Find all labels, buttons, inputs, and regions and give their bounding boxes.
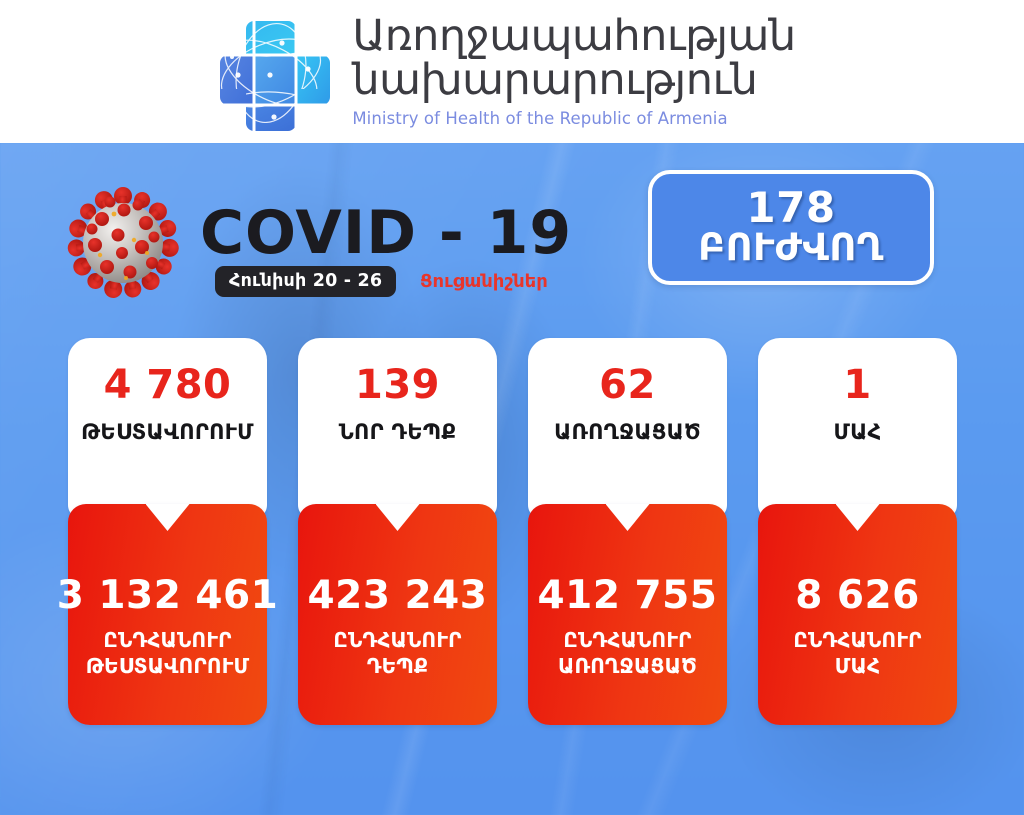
coronavirus-particle-icon bbox=[62, 177, 184, 309]
total-number: 412 755 bbox=[538, 576, 718, 615]
period-number: 1 bbox=[843, 365, 871, 405]
ministry-title-line-2: նախարարություն bbox=[352, 59, 795, 103]
recovering-number: 178 bbox=[746, 187, 835, 230]
period-label: ԹԵՍՏԱՎՈՐՈՒՄ bbox=[81, 420, 254, 444]
stat-card-bottom: 8 626 ԸՆԴՀԱՆՈՒՐ ՄԱՀ bbox=[758, 504, 957, 725]
period-number: 4 780 bbox=[104, 365, 232, 405]
page-title: COVID - 19 bbox=[200, 203, 572, 263]
recovering-label: ԲՈՒԺՎՈՂ bbox=[698, 229, 884, 268]
date-range-badge: Հունիսի 20 - 26 bbox=[215, 266, 396, 297]
brand-text: Առողջապահության նախարարություն Ministry … bbox=[352, 15, 795, 129]
stat-card-top: 139 ՆՈՐ ԴԵՊՔ bbox=[298, 338, 497, 519]
total-label-line-2: ԴԵՊՔ bbox=[333, 654, 461, 680]
period-number: 139 bbox=[355, 365, 440, 405]
total-label-line-1: ԸՆԴՀԱՆՈՒՐ bbox=[793, 628, 921, 654]
ministry-title-line-1: Առողջապահության bbox=[352, 15, 795, 59]
indicators-label: Ցուցանիշներ bbox=[420, 271, 548, 292]
infographic-body: COVID - 19 Հունիսի 20 - 26 Ցուցանիշներ 1… bbox=[0, 143, 1024, 815]
recovering-count-badge: 178 ԲՈՒԺՎՈՂ bbox=[648, 170, 934, 285]
total-label: ԸՆԴՀԱՆՈՒՐ ՄԱՀ bbox=[793, 628, 921, 679]
stat-card-bottom: 412 755 ԸՆԴՀԱՆՈՒՐ ԱՌՈՂՋԱՑԱԾ bbox=[528, 504, 727, 725]
stat-card-bottom: 3 132 461 ԸՆԴՀԱՆՈՒՐ ԹԵՍՏԱՎՈՐՈՒՄ bbox=[68, 504, 267, 725]
period-number: 62 bbox=[599, 365, 656, 405]
total-number: 423 243 bbox=[308, 576, 488, 615]
stat-card-top: 1 ՄԱՀ bbox=[758, 338, 957, 519]
ministry-header: Առողջապահության նախարարություն Ministry … bbox=[0, 0, 1024, 143]
stat-card-testing: 4 780 ԹԵՍՏԱՎՈՐՈՒՄ 3 132 461 ԸՆԴՀԱՆՈՒՐ ԹԵ… bbox=[68, 338, 267, 725]
total-label: ԸՆԴՀԱՆՈՒՐ ԴԵՊՔ bbox=[333, 628, 461, 679]
covid-title-block: COVID - 19 Հունիսի 20 - 26 Ցուցանիշներ bbox=[62, 165, 582, 310]
total-label-line-2: ՄԱՀ bbox=[793, 654, 921, 680]
period-label: ՄԱՀ bbox=[833, 420, 881, 444]
period-label: ԱՌՈՂՋԱՑԱԾ bbox=[554, 420, 701, 444]
stat-card-bottom: 423 243 ԸՆԴՀԱՆՈՒՐ ԴԵՊՔ bbox=[298, 504, 497, 725]
ministry-cross-network-logo-icon bbox=[212, 13, 330, 131]
total-label: ԸՆԴՀԱՆՈՒՐ ԹԵՍՏԱՎՈՐՈՒՄ bbox=[86, 628, 250, 679]
total-label-line-1: ԸՆԴՀԱՆՈՒՐ bbox=[558, 628, 697, 654]
header-inner: Առողջապահության նախարարություն Ministry … bbox=[212, 13, 795, 131]
stat-card-deaths: 1 ՄԱՀ 8 626 ԸՆԴՀԱՆՈՒՐ ՄԱՀ bbox=[758, 338, 957, 725]
stat-card-new-cases: 139 ՆՈՐ ԴԵՊՔ 423 243 ԸՆԴՀԱՆՈՒՐ ԴԵՊՔ bbox=[298, 338, 497, 725]
stat-card-top: 62 ԱՌՈՂՋԱՑԱԾ bbox=[528, 338, 727, 519]
covid-infographic-page: Առողջապահության նախարարություն Ministry … bbox=[0, 0, 1024, 815]
ministry-subtitle-english: Ministry of Health of the Republic of Ar… bbox=[352, 109, 795, 128]
total-label-line-2: ԹԵՍՏԱՎՈՐՈՒՄ bbox=[86, 654, 250, 680]
stat-cards-row: 4 780 ԹԵՍՏԱՎՈՐՈՒՄ 3 132 461 ԸՆԴՀԱՆՈՒՐ ԹԵ… bbox=[0, 338, 1024, 728]
stat-card-recovered: 62 ԱՌՈՂՋԱՑԱԾ 412 755 ԸՆԴՀԱՆՈՒՐ ԱՌՈՂՋԱՑԱԾ bbox=[528, 338, 727, 725]
stat-card-top: 4 780 ԹԵՍՏԱՎՈՐՈՒՄ bbox=[68, 338, 267, 519]
total-label: ԸՆԴՀԱՆՈՒՐ ԱՌՈՂՋԱՑԱԾ bbox=[558, 628, 697, 679]
total-number: 3 132 461 bbox=[57, 576, 279, 615]
period-label: ՆՈՐ ԴԵՊՔ bbox=[339, 420, 457, 444]
total-number: 8 626 bbox=[795, 576, 920, 615]
total-label-line-1: ԸՆԴՀԱՆՈՒՐ bbox=[86, 628, 250, 654]
total-label-line-1: ԸՆԴՀԱՆՈՒՐ bbox=[333, 628, 461, 654]
total-label-line-2: ԱՌՈՂՋԱՑԱԾ bbox=[558, 654, 697, 680]
